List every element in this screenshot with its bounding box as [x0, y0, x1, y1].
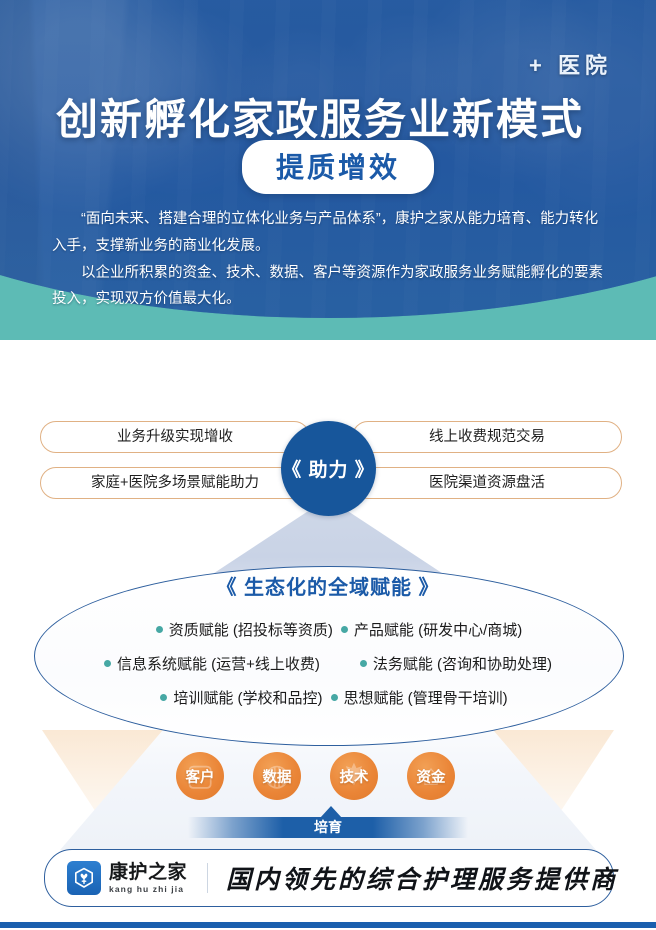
header-banner: + 医院 创新孵化家政服务业新模式 提质增效 “面向未来、搭建合理的立体化业务与…	[0, 0, 656, 340]
resource-circle-data[interactable]: ◍ 数据	[253, 752, 301, 800]
list-item-label: 资质赋能 (招投标等资质)	[169, 619, 333, 640]
bullet-dot-icon	[341, 626, 348, 633]
resource-label: 技术	[340, 766, 369, 787]
bullet-dot-icon	[104, 660, 111, 667]
header-paragraph-1: “面向未来、搭建合理的立体化业务与产品体系”，康护之家从能力培育、能力转化入手，…	[52, 206, 608, 260]
list-item: 培训赋能 (学校和品控)	[160, 687, 322, 708]
assist-center-circle: 《 助力 》	[281, 421, 376, 516]
ecosystem-title: 《 生态化的全域赋能 》	[0, 571, 656, 600]
list-item: 产品赋能 (研发中心/商城)	[341, 619, 522, 640]
footer-divider	[207, 863, 208, 893]
assist-pill-bottom-right[interactable]: 医院渠道资源盘活	[352, 467, 622, 499]
bullet-dot-icon	[331, 694, 338, 701]
footer-brand-bar: 康护之家 kang hu zhi jia 国内领先的综合护理服务提供商	[44, 849, 614, 907]
bullet-dot-icon	[156, 626, 163, 633]
header-description: “面向未来、搭建合理的立体化业务与产品体系”，康护之家从能力培育、能力转化入手，…	[52, 206, 608, 313]
list-item: 资质赋能 (招投标等资质)	[156, 619, 333, 640]
infographic-page: + 医院 创新孵化家政服务业新模式 提质增效 “面向未来、搭建合理的立体化业务与…	[0, 0, 656, 930]
assist-pill-top-left[interactable]: 业务升级实现增收	[40, 421, 310, 453]
list-item-label: 培训赋能 (学校和品控)	[173, 687, 322, 708]
resource-label: 资金	[417, 766, 446, 787]
list-item-label: 产品赋能 (研发中心/商城)	[354, 619, 522, 640]
resource-label: 客户	[186, 766, 215, 787]
brand-slogan: 国内领先的综合护理服务提供商	[226, 860, 618, 896]
list-item: 信息系统赋能 (运营+线上收费)	[104, 653, 320, 674]
bullet-dot-icon	[160, 694, 167, 701]
ecosystem-row: 信息系统赋能 (运营+线上收费) 法务赋能 (咨询和协助处理)	[46, 646, 610, 680]
list-item-label: 思想赋能 (管理骨干培训)	[344, 687, 508, 708]
page-title: 创新孵化家政服务业新模式	[56, 86, 584, 147]
resource-label: 数据	[263, 766, 292, 787]
list-item: 法务赋能 (咨询和协助处理)	[360, 653, 552, 674]
header-paragraph-2: 以企业所积累的资金、技术、数据、客户等资源作为家政服务业务赋能孵化的要素投入，实…	[52, 260, 608, 314]
assist-pill-top-right[interactable]: 线上收费规范交易	[352, 421, 622, 453]
bottom-rule	[0, 922, 656, 928]
brand-logo-icon	[67, 861, 101, 895]
ecosystem-row: 资质赋能 (招投标等资质) 产品赋能 (研发中心/商城)	[46, 612, 610, 646]
brand-logo-text: 康护之家 kang hu zhi jia	[109, 863, 187, 894]
assist-pill-bottom-left[interactable]: 家庭+医院多场景赋能助力	[40, 467, 310, 499]
hospital-badge: + 医院	[529, 48, 612, 80]
cultivate-banner: 培育	[188, 806, 468, 838]
ecosystem-row: 培训赋能 (学校和品控) 思想赋能 (管理骨干培训)	[46, 680, 610, 714]
list-item-label: 法务赋能 (咨询和协助处理)	[373, 653, 552, 674]
list-item: 思想赋能 (管理骨干培训)	[331, 687, 508, 708]
resource-circle-technology[interactable]: ✸ 技术	[330, 752, 378, 800]
resource-circle-customer[interactable]: ▢ 客户	[176, 752, 224, 800]
resource-circle-capital[interactable]: ⌂ 资金	[407, 752, 455, 800]
bullet-dot-icon	[360, 660, 367, 667]
ecosystem-list: 资质赋能 (招投标等资质) 产品赋能 (研发中心/商城) 信息系统赋能 (运营+…	[46, 612, 610, 714]
subtitle-pill: 提质增效	[242, 140, 434, 194]
brand-name-pinyin: kang hu zhi jia	[109, 885, 187, 894]
cultivate-label: 培育	[188, 817, 468, 838]
brand-name-cn: 康护之家	[109, 863, 187, 882]
list-item-label: 信息系统赋能 (运营+线上收费)	[117, 653, 320, 674]
